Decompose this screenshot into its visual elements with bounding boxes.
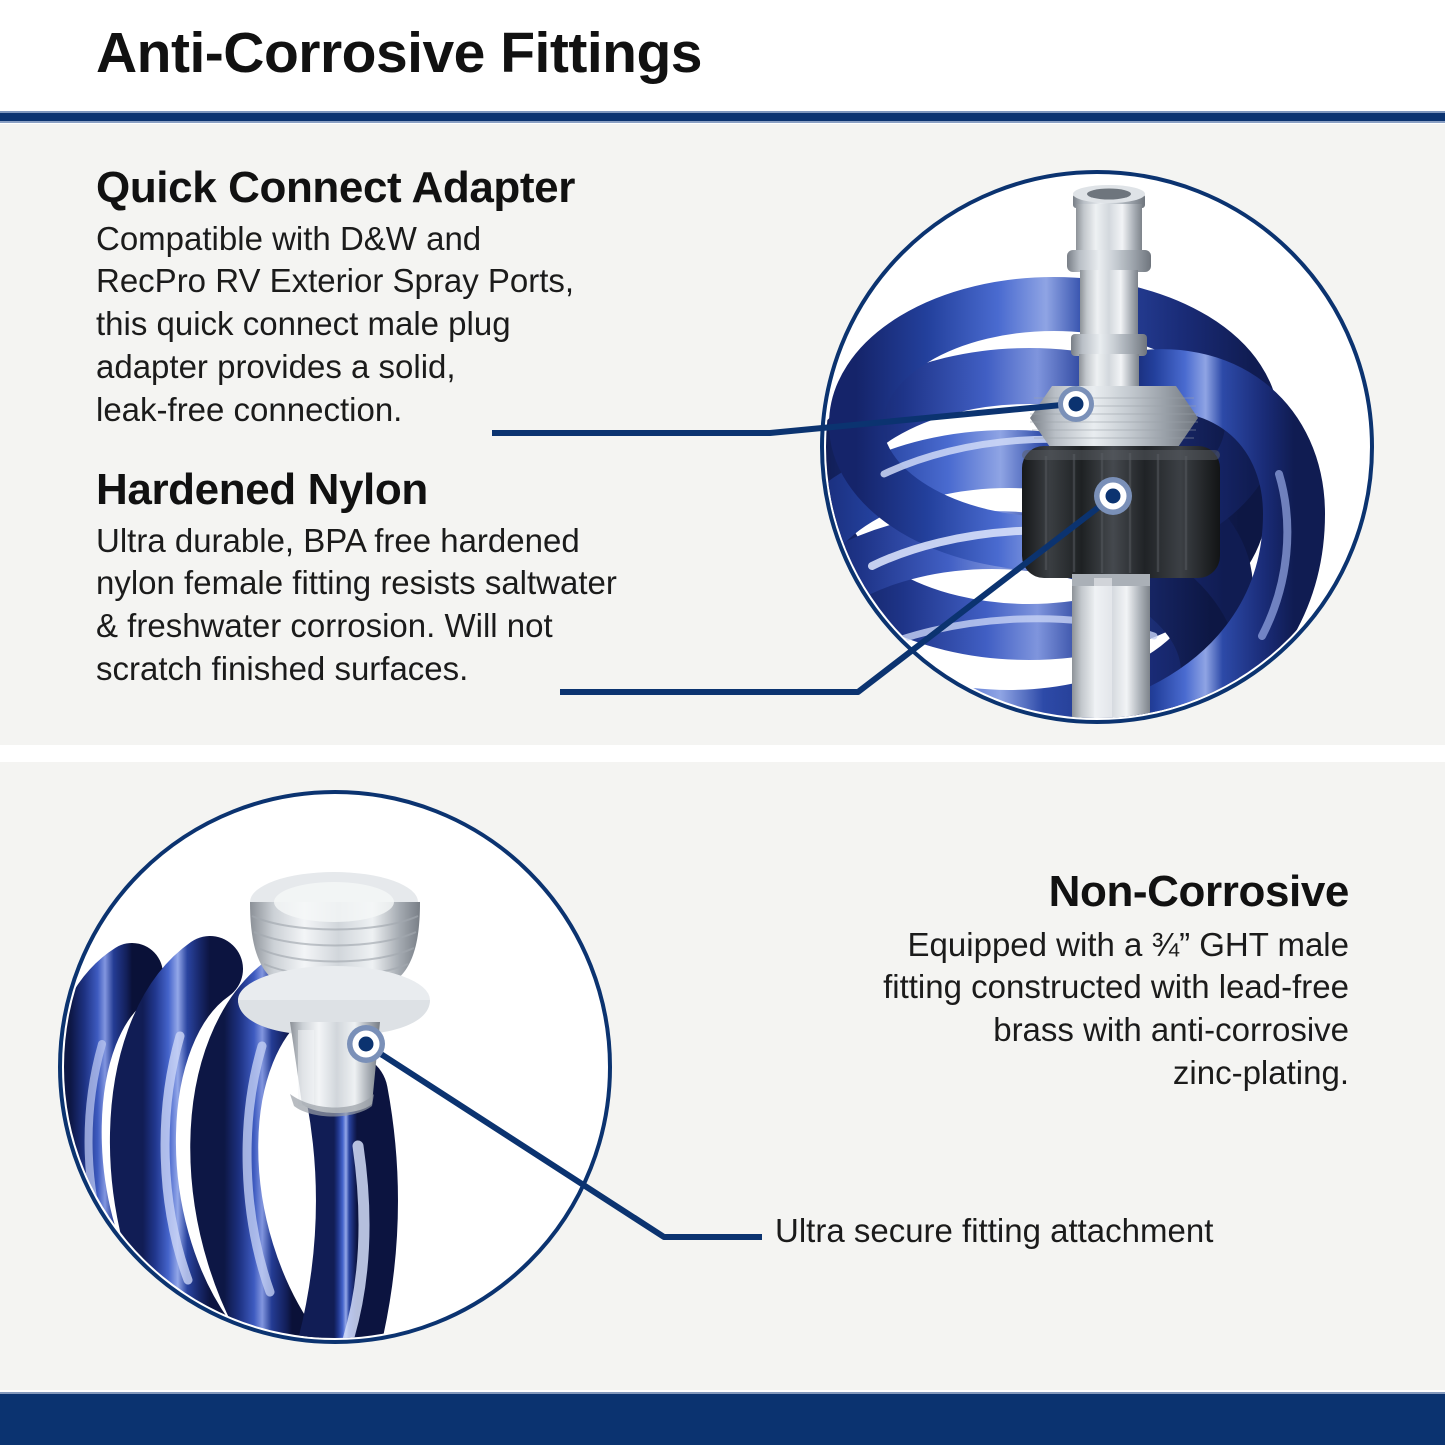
footer-bar [0,1394,1445,1445]
body-non-corrosive: Equipped with a ¾” GHT male fitting cons… [689,924,1349,1096]
quick-connect-illustration [824,174,1370,720]
body-quick-connect-adapter: Compatible with D&W and RecPro RV Exteri… [96,218,796,432]
header-rule-highlight-bottom [0,121,1445,123]
infographic-page: Anti-Corrosive Fittings Quick Connect Ad… [0,0,1445,1445]
body-line: Compatible with D&W and [96,218,796,261]
section-quick-connect-adapter: Quick Connect Adapter Compatible with D&… [96,164,796,432]
heading-non-corrosive: Non-Corrosive [689,868,1349,916]
header-rule [0,113,1445,121]
body-line: adapter provides a solid, [96,346,796,389]
photo-ght-fitting-image [62,794,608,1340]
photo-ght-fitting [58,790,612,1344]
heading-quick-connect-adapter: Quick Connect Adapter [96,164,796,212]
section-hardened-nylon: Hardened Nylon Ultra durable, BPA free h… [96,466,816,691]
body-line: fitting constructed with lead-free [689,966,1349,1009]
body-hardened-nylon: Ultra durable, BPA free hardened nylon f… [96,520,816,692]
body-line: this quick connect male plug [96,303,796,346]
page-title: Anti-Corrosive Fittings [96,20,702,86]
body-line: Equipped with a ¾” GHT male [689,924,1349,967]
caption-ultra-secure-fitting: Ultra secure fitting attachment [775,1212,1213,1250]
body-line: leak-free connection. [96,389,796,432]
body-line: & freshwater corrosion. Will not [96,605,816,648]
panel-divider [0,745,1445,762]
body-line: Ultra durable, BPA free hardened [96,520,816,563]
photo-quick-connect [820,170,1374,724]
photo-quick-connect-image [824,174,1370,720]
body-line: scratch finished surfaces. [96,648,816,691]
ght-fitting-illustration [62,794,608,1340]
body-line: zinc-plating. [689,1052,1349,1095]
body-line: RecPro RV Exterior Spray Ports, [96,260,796,303]
header: Anti-Corrosive Fittings [0,0,1445,113]
section-non-corrosive: Non-Corrosive Equipped with a ¾” GHT mal… [689,868,1349,1095]
body-line: nylon female fitting resists saltwater [96,562,816,605]
body-line: brass with anti-corrosive [689,1009,1349,1052]
heading-hardened-nylon: Hardened Nylon [96,466,816,514]
